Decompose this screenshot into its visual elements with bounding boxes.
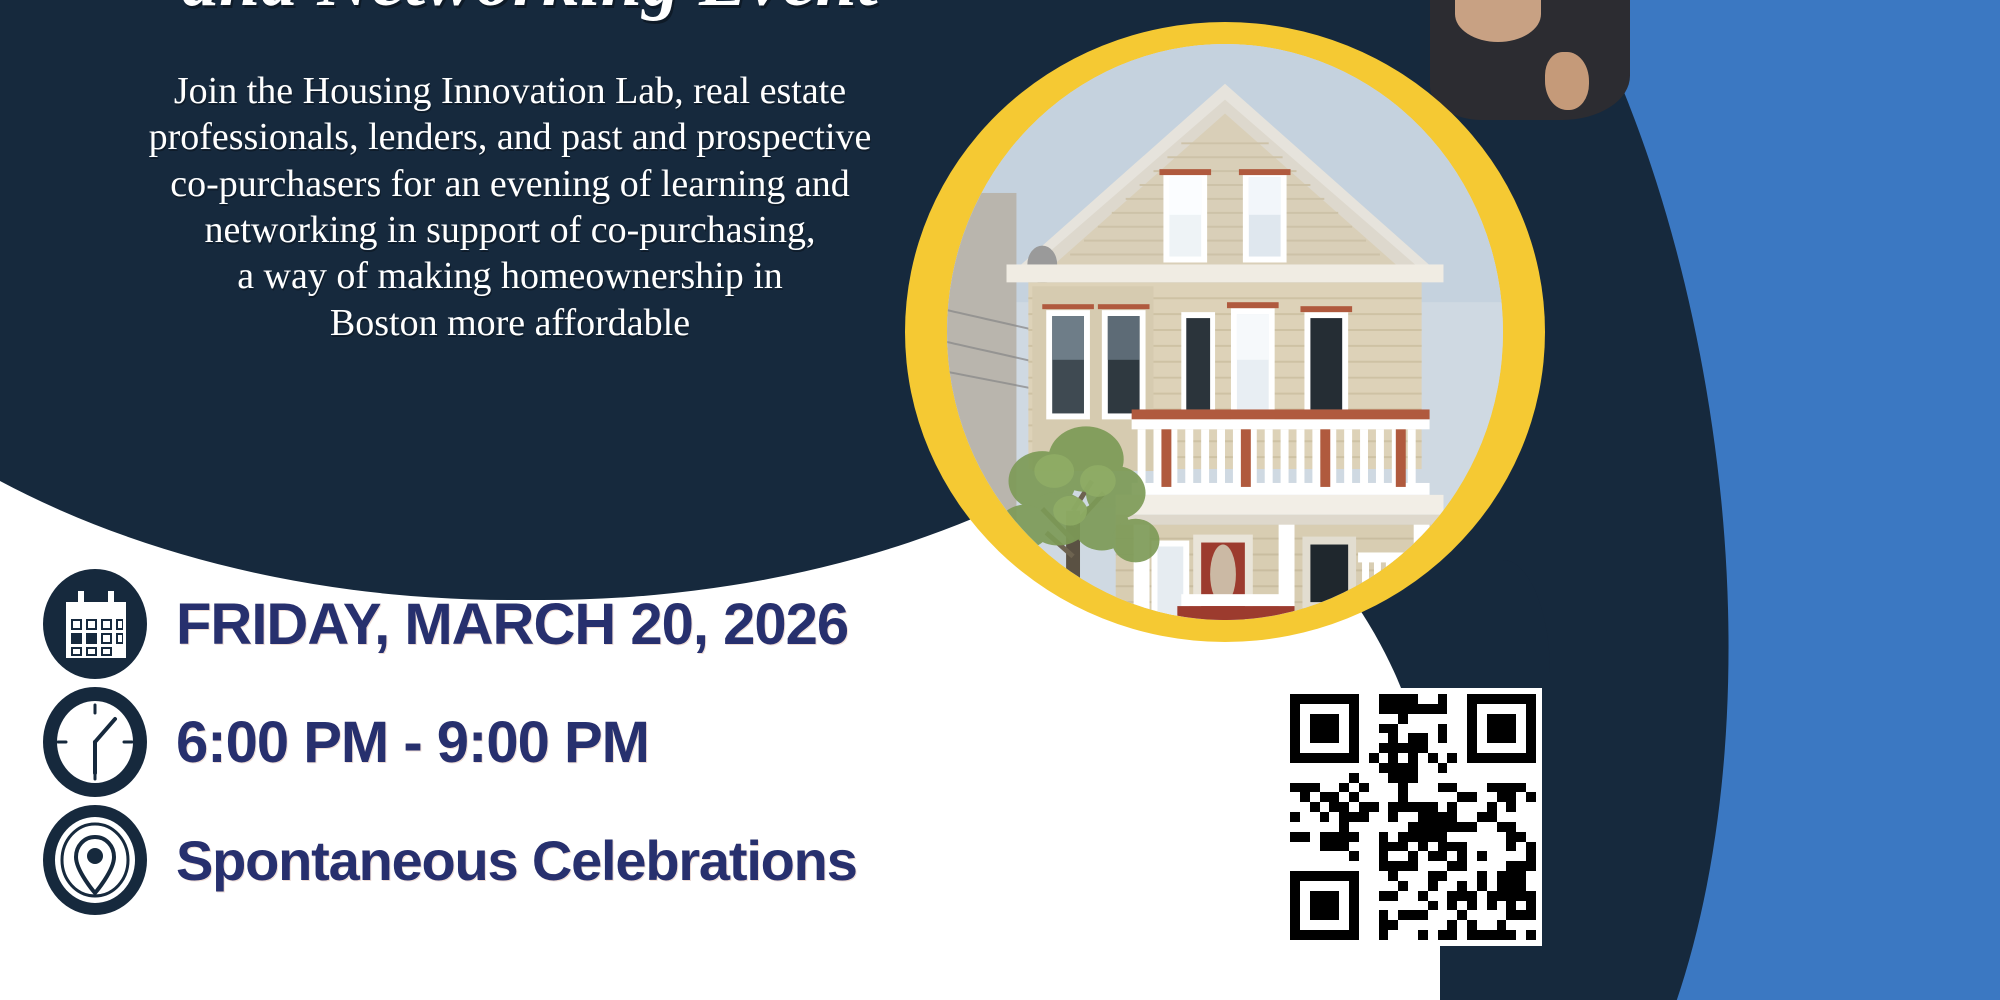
qr-code-grid: [1290, 694, 1536, 940]
detail-row-time: 6:00 PM - 9:00 PM: [40, 683, 1000, 801]
description-line: Boston more affordable: [40, 300, 980, 346]
description-line: Join the Housing Innovation Lab, real es…: [40, 68, 980, 114]
event-time-text: 6:00 PM - 9:00 PM: [176, 709, 649, 776]
detail-row-date: FRIDAY, MARCH 20, 2026: [40, 565, 1000, 683]
page-title: and Networking Event: [0, 0, 1060, 18]
description-line: networking in support of co-purchasing,: [40, 207, 980, 253]
description-line: professionals, lenders, and past and pro…: [40, 114, 980, 160]
event-flyer: and Networking Event Join the Housing In…: [0, 0, 2000, 1000]
event-date-text: FRIDAY, MARCH 20, 2026: [176, 591, 848, 658]
event-details-list: FRIDAY, MARCH 20, 2026: [40, 565, 1000, 919]
person-hand-partial: [1545, 52, 1589, 110]
qr-code[interactable]: [1284, 688, 1542, 946]
house-photo: [947, 44, 1503, 620]
clock-icon: [40, 687, 150, 797]
event-venue-text: Spontaneous Celebrations: [176, 828, 857, 893]
calendar-icon: [40, 569, 150, 679]
detail-row-location: Spontaneous Celebrations: [40, 801, 1000, 919]
event-description: Join the Housing Innovation Lab, real es…: [40, 68, 980, 346]
description-line: a way of making homeownership in: [40, 253, 980, 299]
description-line: co-purchasers for an evening of learning…: [40, 161, 980, 207]
house-photo-frame: [905, 22, 1545, 642]
location-pin-icon: [40, 805, 150, 915]
